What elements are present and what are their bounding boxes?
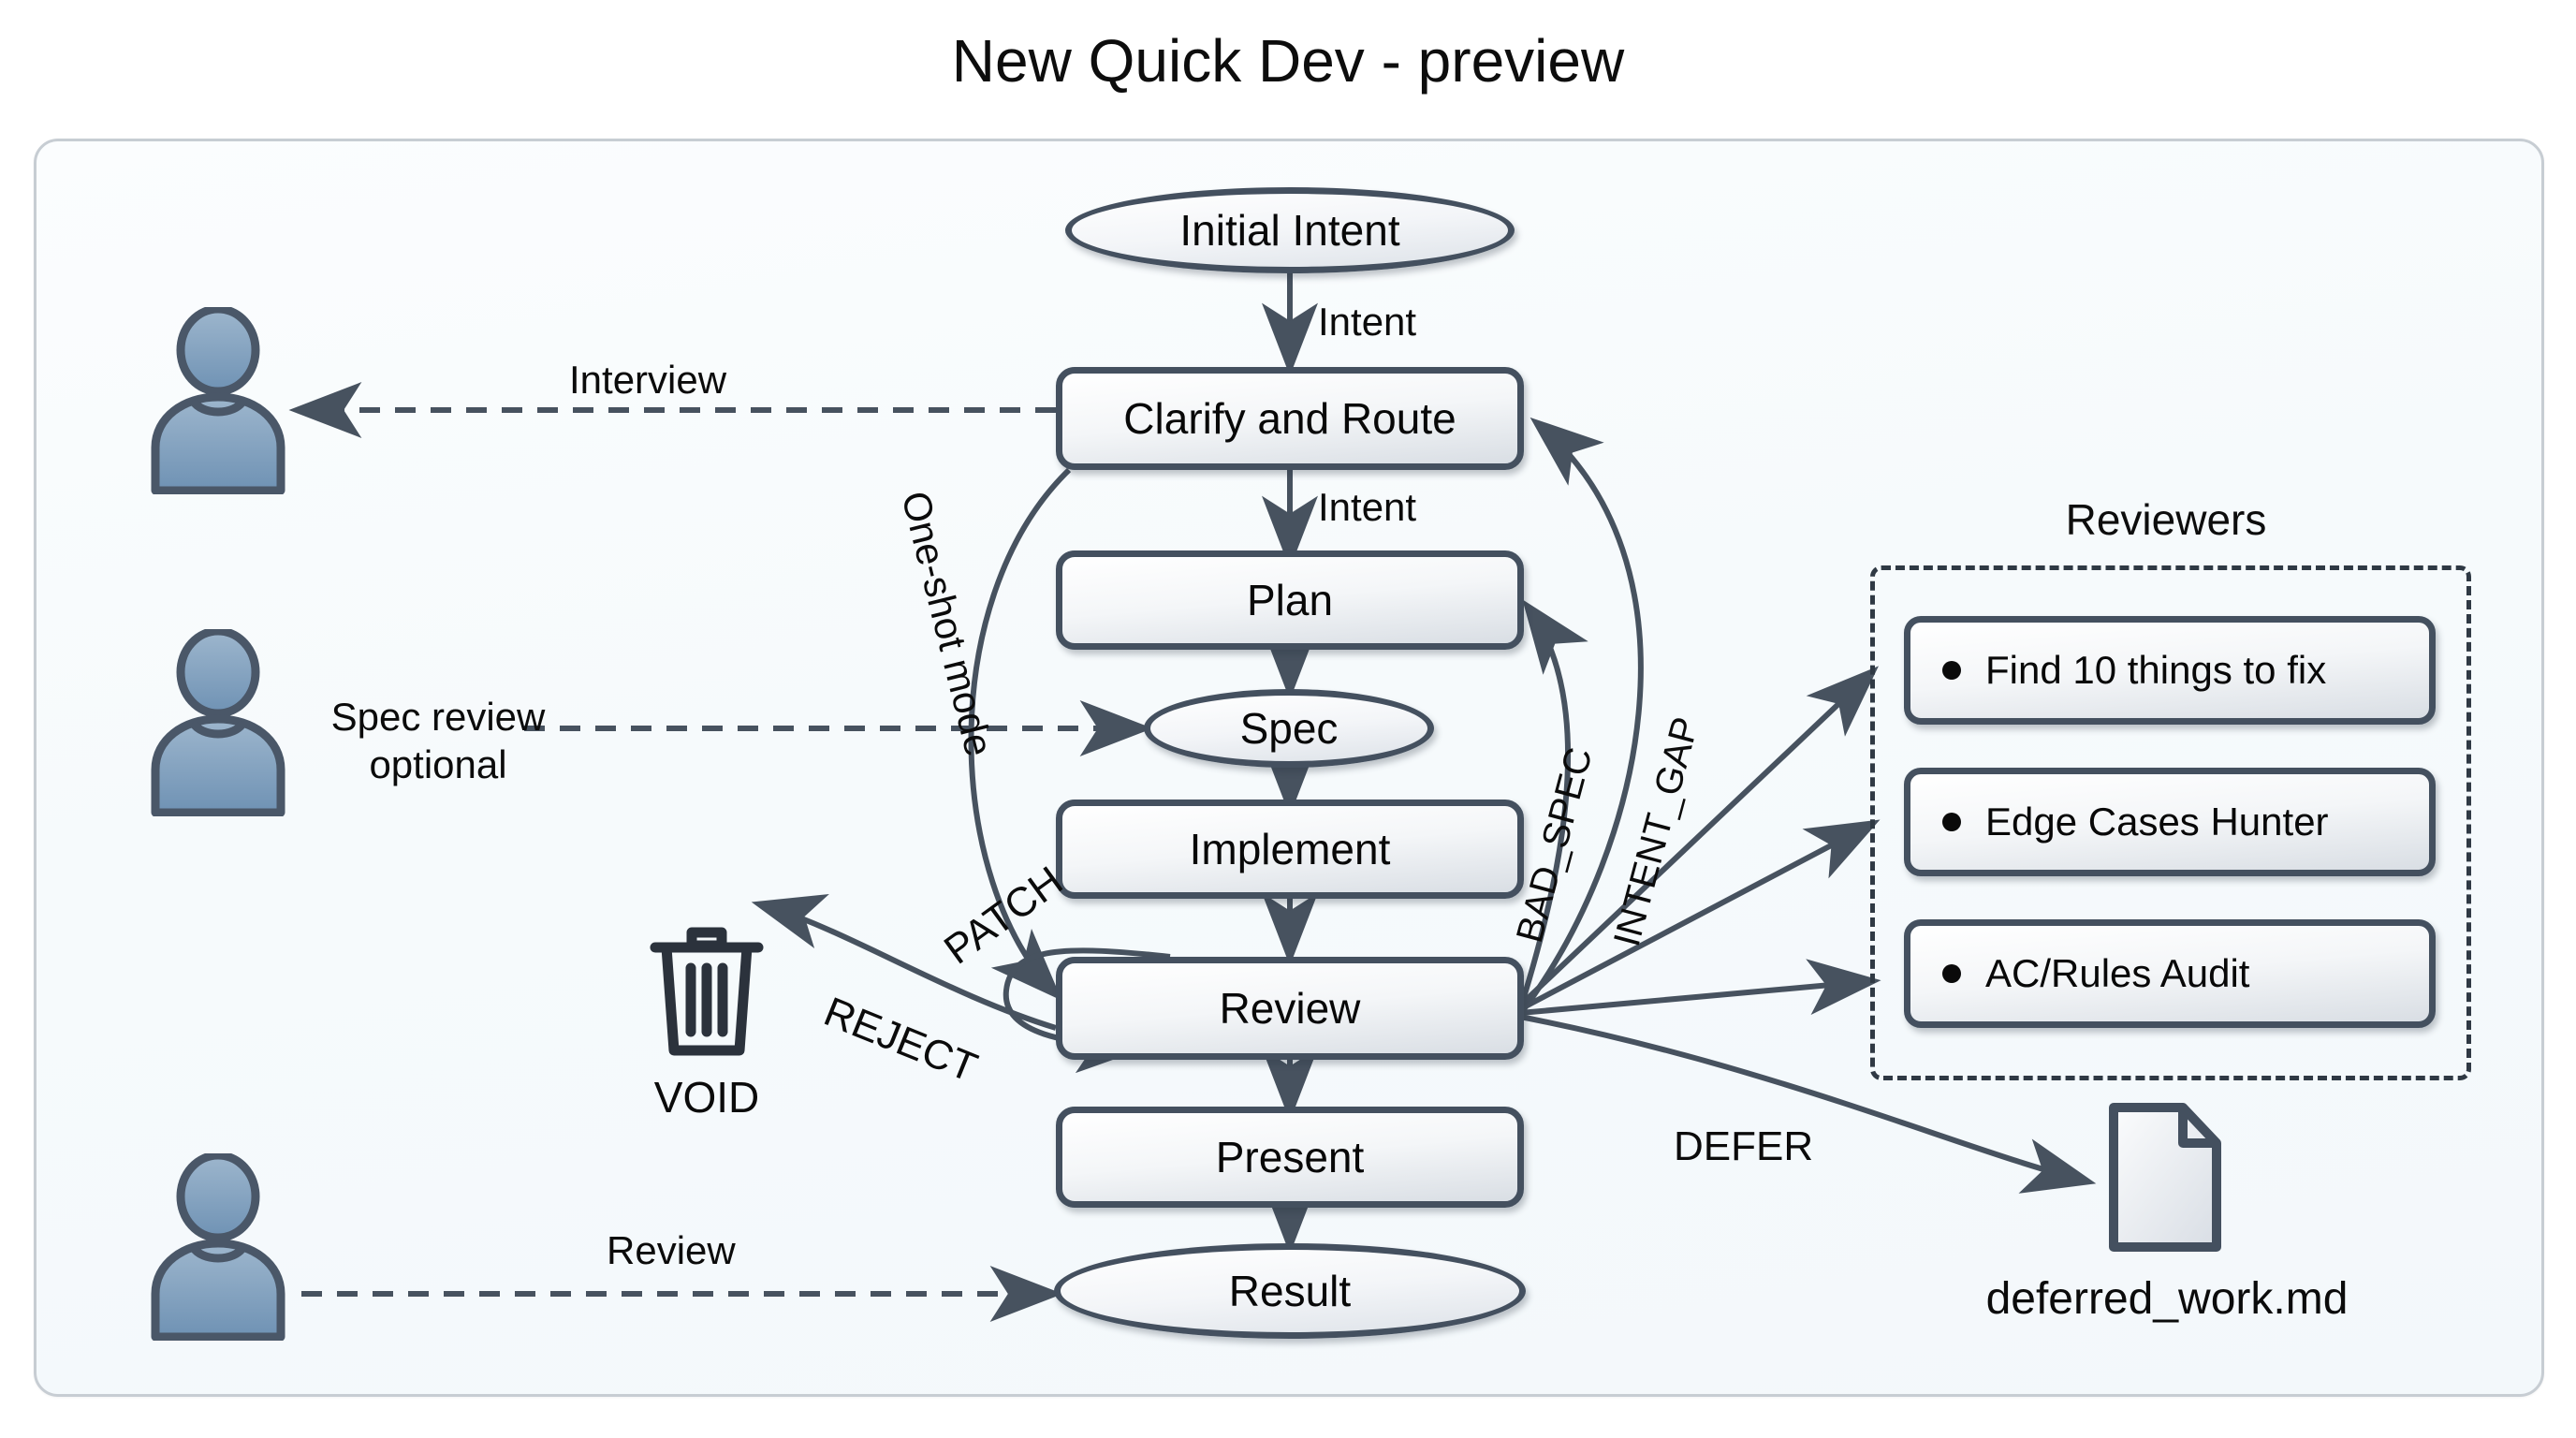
node-result[interactable]: Result	[1054, 1243, 1526, 1339]
node-clarify-and-route[interactable]: Clarify and Route	[1056, 367, 1524, 470]
user-actor-icon	[139, 1153, 298, 1341]
reviewer-label: AC/Rules Audit	[1985, 951, 2249, 996]
actor-bottom[interactable]	[139, 1153, 298, 1341]
reviewer-item-find-10-things-to-fix[interactable]: Find 10 things to fix	[1904, 616, 2436, 725]
trash-icon[interactable]	[646, 917, 768, 1058]
node-label: Present	[1216, 1132, 1365, 1182]
node-implement[interactable]: Implement	[1056, 800, 1524, 899]
bullet-icon	[1942, 661, 1961, 680]
edge-label-interview: Interview	[569, 358, 726, 403]
deferred-work-label: deferred_work.md	[1900, 1273, 2434, 1325]
node-label: Plan	[1247, 575, 1333, 625]
user-actor-icon	[139, 629, 298, 816]
void-label: VOID	[613, 1072, 800, 1123]
node-label: Implement	[1190, 824, 1391, 874]
reviewer-item-edge-cases-hunter[interactable]: Edge Cases Hunter	[1904, 768, 2436, 876]
reviewers-title: Reviewers	[1870, 494, 2462, 545]
spec-review-line2: optional	[369, 742, 506, 786]
bullet-icon	[1942, 813, 1961, 831]
actor-top[interactable]	[139, 307, 298, 494]
document-glyph	[2104, 1100, 2226, 1255]
node-label: Clarify and Route	[1123, 393, 1456, 444]
edge-label-review-bottom: Review	[607, 1228, 736, 1273]
node-label: Initial Intent	[1179, 205, 1399, 256]
reviewer-label: Edge Cases Hunter	[1985, 800, 2329, 844]
document-icon[interactable]	[2104, 1100, 2226, 1255]
node-label: Review	[1220, 983, 1361, 1034]
actor-middle[interactable]	[139, 629, 298, 816]
node-label: Spec	[1240, 703, 1339, 754]
edge-label-spec-review-optional: Find 10 things to fix Spec review option…	[298, 693, 578, 788]
spec-review-line1: Spec review	[331, 695, 546, 739]
edge-label-intent-1: Intent	[1318, 300, 1416, 345]
reviewer-label: Find 10 things to fix	[1985, 648, 2326, 693]
user-actor-icon	[139, 307, 298, 494]
node-label: Result	[1229, 1266, 1351, 1316]
node-initial-intent[interactable]: Initial Intent	[1065, 187, 1515, 273]
node-spec[interactable]: Spec	[1144, 689, 1434, 768]
bullet-icon	[1942, 964, 1961, 983]
trash-can-glyph	[646, 917, 768, 1058]
node-review[interactable]: Review	[1056, 957, 1524, 1060]
edge-label-defer: DEFER	[1674, 1123, 1813, 1170]
node-plan[interactable]: Plan	[1056, 550, 1524, 650]
edge-label-intent-2: Intent	[1318, 485, 1416, 530]
diagram-canvas: New Quick Dev - preview	[0, 0, 2576, 1438]
reviewer-item-ac-rules-audit[interactable]: AC/Rules Audit	[1904, 919, 2436, 1028]
page-title: New Quick Dev - preview	[0, 26, 2576, 95]
node-present[interactable]: Present	[1056, 1107, 1524, 1208]
